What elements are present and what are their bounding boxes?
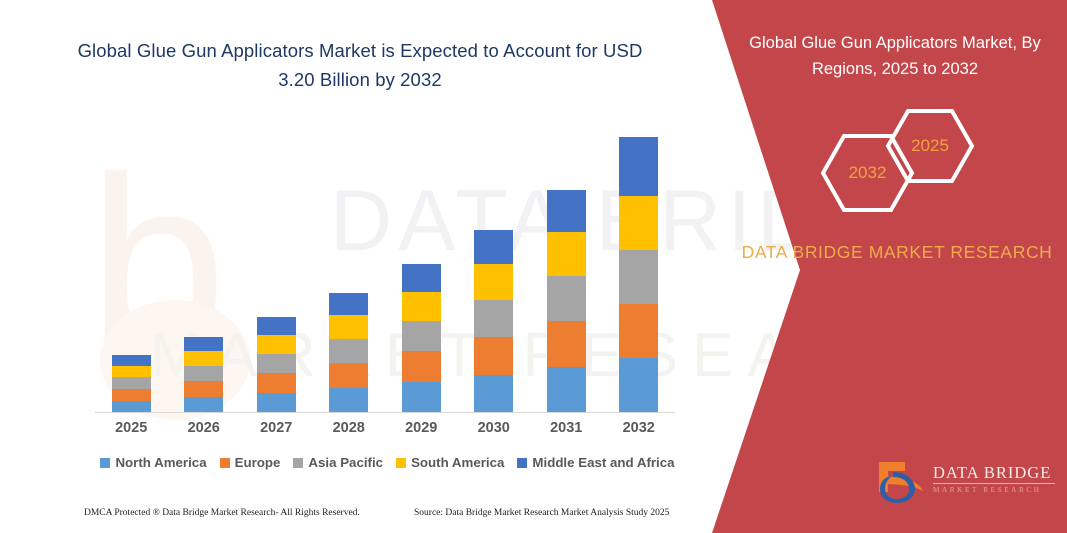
bar-segment: [329, 339, 368, 363]
bar-segment: [474, 264, 513, 300]
x-axis-labels: 20252026202720282029203020312032: [95, 420, 675, 436]
chart-legend: North AmericaEuropeAsia PacificSouth Ame…: [95, 455, 680, 470]
x-axis-label-2030: 2030: [458, 420, 531, 436]
logo-subtitle: MARKET RESEARCH: [933, 486, 1058, 494]
stacked-bar: [257, 317, 296, 413]
stacked-bar: [329, 293, 368, 413]
bar-segment: [184, 351, 223, 366]
bar-segment: [474, 230, 513, 264]
x-axis-label-2032: 2032: [603, 420, 676, 436]
legend-item-2[interactable]: Asia Pacific: [293, 455, 383, 470]
legend-label: Asia Pacific: [308, 455, 383, 470]
stacked-bar: [402, 264, 441, 413]
stacked-bar: [474, 230, 513, 413]
bar-segment: [329, 293, 368, 315]
bar-segment: [474, 337, 513, 375]
footer-source: Source: Data Bridge Market Research Mark…: [414, 508, 684, 518]
bar-segment: [257, 393, 296, 413]
bar-column-2029: [385, 120, 458, 413]
x-axis-label-2025: 2025: [95, 420, 168, 436]
hexagon-group: 2032 2025: [800, 108, 1020, 213]
bar-segment: [329, 363, 368, 388]
company-logo: DATA BRIDGE MARKET RESEARCH: [875, 458, 1055, 506]
legend-item-3[interactable]: South America: [396, 455, 504, 470]
bar-column-2031: [530, 120, 603, 413]
bar-segment: [257, 373, 296, 393]
bar-segment: [619, 137, 658, 196]
chart-plot-area: [95, 120, 675, 413]
bar-segment: [547, 190, 586, 232]
bar-segment: [619, 358, 658, 413]
stacked-bar: [547, 190, 586, 413]
infographic-canvas: b DATA BRIDGE MARKET RESEARCH Global Glu…: [0, 0, 1067, 533]
x-axis-line: [95, 412, 675, 413]
legend-swatch-icon: [220, 458, 230, 468]
hexagon-2025-label: 2025: [911, 136, 949, 156]
legend-swatch-icon: [396, 458, 406, 468]
bar-segment: [547, 321, 586, 367]
bar-segment: [547, 276, 586, 321]
hexagon-2032-label: 2032: [849, 163, 887, 183]
bar-segment: [112, 377, 151, 389]
bar-segment: [547, 367, 586, 413]
x-axis-label-2026: 2026: [168, 420, 241, 436]
x-axis-label-2031: 2031: [530, 420, 603, 436]
stacked-bar: [112, 355, 151, 413]
legend-swatch-icon: [100, 458, 110, 468]
legend-label: Middle East and Africa: [532, 455, 674, 470]
bar-column-2030: [458, 120, 531, 413]
legend-item-0[interactable]: North America: [100, 455, 206, 470]
stacked-bars: [95, 120, 675, 413]
x-axis-label-2028: 2028: [313, 420, 386, 436]
bar-column-2032: [603, 120, 676, 413]
brand-name: DATA BRIDGE MARKET RESEARCH: [737, 238, 1057, 267]
bar-segment: [619, 304, 658, 358]
bar-segment: [257, 317, 296, 335]
bar-column-2027: [240, 120, 313, 413]
bar-segment: [619, 250, 658, 304]
legend-label: North America: [115, 455, 206, 470]
bar-segment: [474, 375, 513, 413]
bar-segment: [402, 382, 441, 413]
branding-panel: Global Glue Gun Applicators Market, By R…: [690, 0, 1067, 533]
x-axis-label-2029: 2029: [385, 420, 458, 436]
stacked-bar: [619, 137, 658, 413]
legend-item-4[interactable]: Middle East and Africa: [517, 455, 674, 470]
bar-segment: [184, 397, 223, 413]
bar-segment: [619, 196, 658, 250]
bar-segment: [112, 355, 151, 366]
bar-segment: [402, 351, 441, 382]
logo-divider: [933, 483, 1055, 484]
bar-segment: [474, 300, 513, 337]
bar-segment: [112, 389, 151, 401]
bar-segment: [547, 232, 586, 276]
legend-label: Europe: [235, 455, 281, 470]
bar-segment: [329, 388, 368, 413]
bar-segment: [257, 335, 296, 354]
bar-segment: [402, 321, 441, 351]
chart-title: Global Glue Gun Applicators Market is Ex…: [60, 36, 660, 94]
legend-swatch-icon: [293, 458, 303, 468]
bar-segment: [184, 381, 223, 397]
bar-segment: [257, 354, 296, 373]
logo-mark-icon: [875, 458, 927, 504]
stacked-bar: [184, 337, 223, 413]
bar-column-2025: [95, 120, 168, 413]
bar-segment: [402, 292, 441, 321]
bar-segment: [112, 366, 151, 377]
bar-column-2028: [313, 120, 386, 413]
bar-segment: [402, 264, 441, 292]
x-axis-label-2027: 2027: [240, 420, 313, 436]
bar-segment: [184, 366, 223, 381]
panel-title: Global Glue Gun Applicators Market, By R…: [735, 30, 1055, 82]
logo-title: DATA BRIDGE: [933, 463, 1058, 482]
legend-item-1[interactable]: Europe: [220, 455, 281, 470]
bar-column-2026: [168, 120, 241, 413]
bar-segment: [184, 337, 223, 351]
bar-segment: [329, 315, 368, 339]
chart-pane: Global Glue Gun Applicators Market is Ex…: [0, 0, 712, 533]
footer-copyright: DMCA Protected ® Data Bridge Market Rese…: [84, 508, 414, 518]
legend-swatch-icon: [517, 458, 527, 468]
legend-label: South America: [411, 455, 504, 470]
footer: DMCA Protected ® Data Bridge Market Rese…: [84, 508, 684, 518]
hexagon-year-2025: 2025: [885, 108, 975, 184]
logo-wordmark: DATA BRIDGE MARKET RESEARCH: [933, 463, 1058, 494]
